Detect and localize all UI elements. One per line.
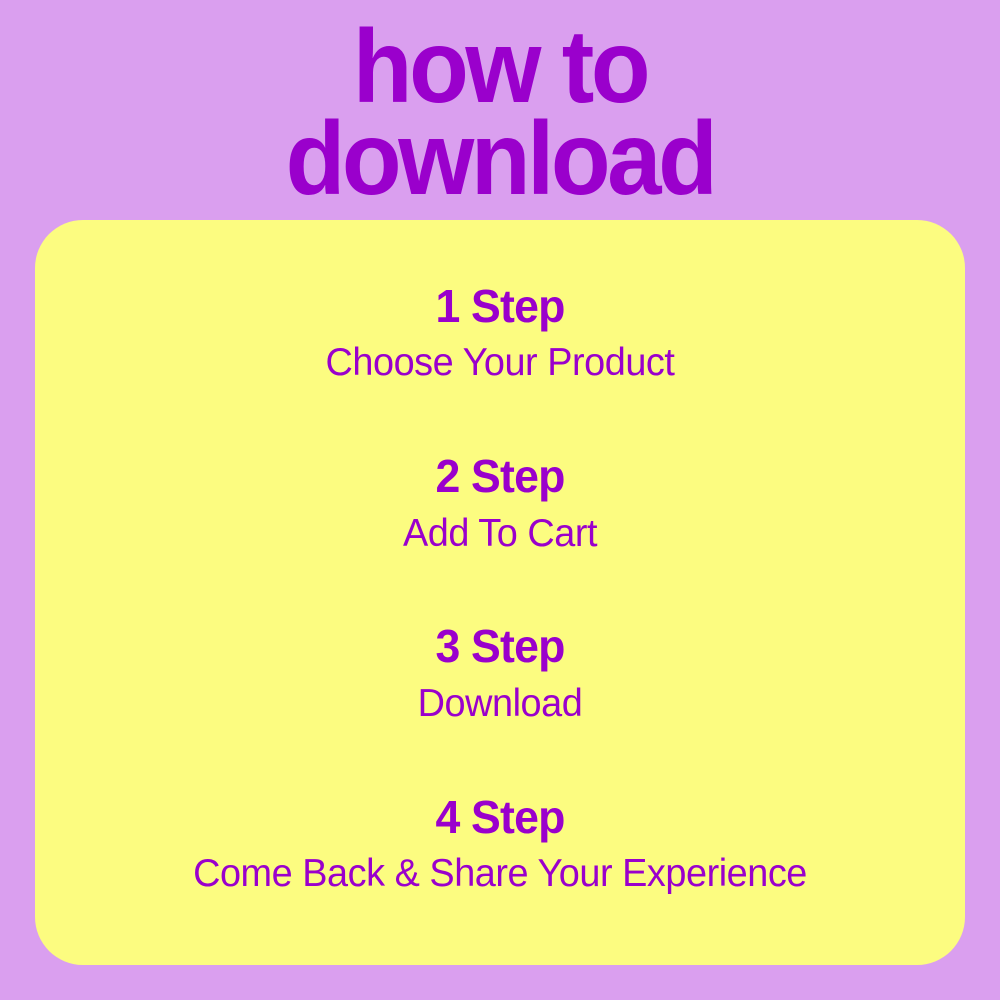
step-1-heading: 1 Step [49,282,951,330]
steps-card: 1 Step Choose Your Product 2 Step Add To… [35,220,965,965]
steps-list: 1 Step Choose Your Product 2 Step Add To… [35,220,965,965]
step-2-description: Add To Cart [49,514,951,555]
step-item-3: 3 Step Download [35,622,965,724]
step-item-2: 2 Step Add To Cart [35,452,965,554]
step-2-heading: 2 Step [49,452,951,500]
step-item-4: 4 Step Come Back & Share Your Experience [35,793,965,895]
step-item-1: 1 Step Choose Your Product [35,282,965,384]
step-1-description: Choose Your Product [49,343,951,384]
how-to-download-graphic: { "theme": { "background_color": "#DA9FE… [0,0,1000,1000]
page-title-line-2: download [30,114,970,206]
page-title: how to download [0,22,1000,205]
step-4-heading: 4 Step [49,793,951,841]
step-4-description: Come Back & Share Your Experience [49,854,951,895]
step-3-heading: 3 Step [49,622,951,670]
step-3-description: Download [49,684,951,725]
